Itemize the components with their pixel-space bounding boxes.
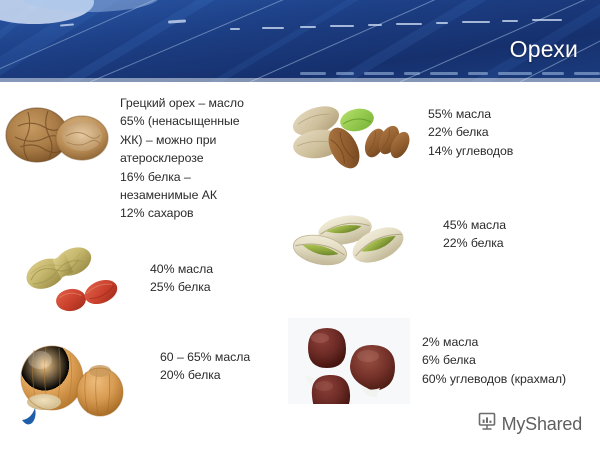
brand-mark[interactable]: MyShared <box>477 411 582 436</box>
pistachio-photo <box>290 208 408 274</box>
header-banner: Орехи <box>0 0 600 82</box>
walnut-photo <box>4 94 110 172</box>
peanut-photo <box>8 236 126 314</box>
slide: Орехи <box>0 0 600 450</box>
almond-text: 55% масла 22% белка 14% углеводов <box>428 105 593 160</box>
almond-photo <box>288 96 410 172</box>
chestnut-photo <box>288 318 410 404</box>
brand-name: MyShared <box>502 414 582 434</box>
walnut-text: Грецкий орех – масло 65% (ненасыщенные Ж… <box>120 94 295 223</box>
chestnut-text: 2% масла 6% белка 60% углеводов (крахмал… <box>422 333 600 388</box>
blue-swoosh-icon <box>20 406 42 426</box>
peanut-text: 40% масла 25% белка <box>150 260 300 297</box>
slide-title: Орехи <box>510 36 578 63</box>
presentation-chart-icon <box>477 411 497 436</box>
pistachio-text: 45% масла 22% белка <box>443 216 593 253</box>
